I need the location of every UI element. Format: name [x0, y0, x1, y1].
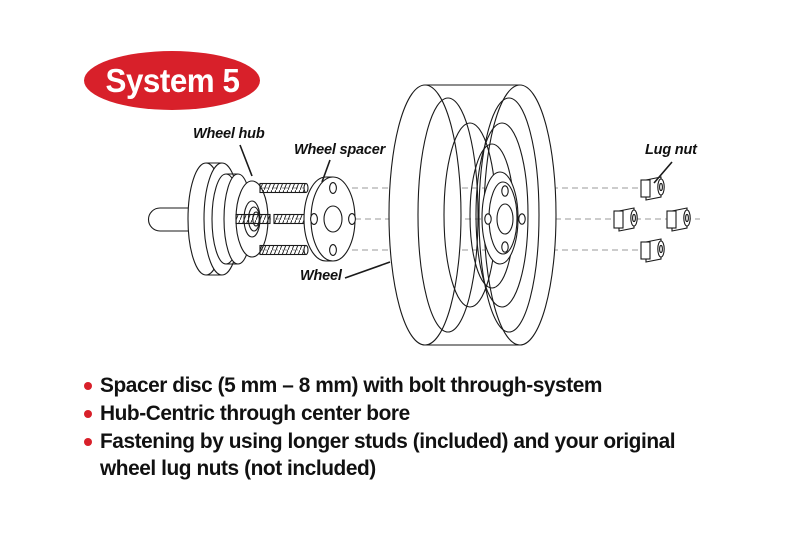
list-item-text: Hub-Centric through center bore	[100, 400, 410, 426]
bullet-dot-icon	[84, 382, 92, 390]
wheel-hub-part	[149, 163, 315, 275]
lug-nut	[641, 177, 664, 200]
lug-nut-group	[614, 177, 690, 262]
list-item: Fastening by using longer studs (include…	[84, 428, 744, 480]
lug-nut	[614, 208, 637, 231]
lug-nut	[667, 208, 690, 231]
bullet-dot-icon	[84, 410, 92, 418]
list-item: Hub-Centric through center bore	[84, 400, 744, 426]
wheel-part	[389, 85, 556, 345]
lug-nut	[641, 239, 664, 262]
diagram-page: System 5	[0, 0, 800, 533]
list-item: Spacer disc (5 mm – 8 mm) with bolt thro…	[84, 372, 744, 398]
wheel-spacer-part	[304, 177, 355, 261]
bullet-dot-icon	[84, 438, 92, 446]
label-wheel: Wheel	[300, 268, 342, 284]
label-wheel-hub: Wheel hub	[193, 126, 265, 142]
label-wheel-spacer: Wheel spacer	[294, 142, 385, 158]
feature-list: Spacer disc (5 mm – 8 mm) with bolt thro…	[84, 372, 744, 483]
list-item-text: Spacer disc (5 mm – 8 mm) with bolt thro…	[100, 372, 602, 398]
list-item-text: Fastening by using longer studs (include…	[100, 428, 725, 480]
label-lug-nut: Lug nut	[645, 142, 697, 158]
